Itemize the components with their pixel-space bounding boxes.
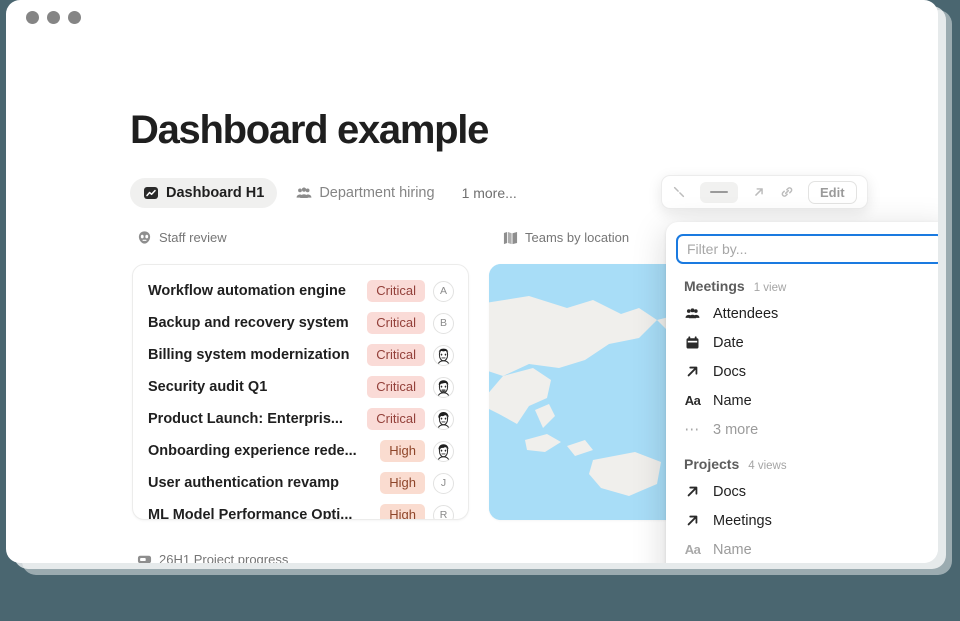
chips-more-label[interactable]: 1 more... [454,185,517,201]
menu-item-label: Name [713,393,752,409]
app-window: Dashboard example Dashboard H1 Departmen… [6,0,938,563]
group-title: Meetings [684,278,745,294]
minimize-button[interactable] [47,11,60,24]
group-view-count: 4 views [748,460,786,472]
arrow-up-right-icon [684,484,701,499]
group-view-count: 1 view [754,282,787,294]
maximize-button[interactable] [68,11,81,24]
task-name: ML Model Performance Opti... [148,507,372,520]
menu-item-label: Docs [713,484,746,500]
priority-badge: Critical [367,344,425,366]
task-row[interactable]: Workflow automation engineCriticalA [133,275,468,307]
close-button[interactable] [26,11,39,24]
avatar[interactable]: B [433,313,454,334]
people-group-icon [684,306,701,321]
staff-review-card: Workflow automation engineCriticalABacku… [132,264,469,520]
chip-department-hiring[interactable]: Department hiring [283,178,447,208]
section-header-teams-by-location: Teams by location [503,230,629,245]
divider-pill-icon[interactable] [700,182,738,203]
priority-badge: High [380,472,425,494]
task-row[interactable]: ML Model Performance Opti...HighR [133,499,468,520]
chip-label: Department hiring [319,185,434,201]
filter-group-header: Projects4 views [676,456,938,474]
task-name: User authentication revamp [148,475,372,491]
group-spacer [676,444,938,456]
priority-badge: Critical [367,376,425,398]
progress-bar-icon [137,552,152,563]
task-name: Billing system modernization [148,347,359,363]
floating-toolbar[interactable]: Edit [661,175,868,209]
task-name: Workflow automation engine [148,283,359,299]
avatar[interactable] [433,409,454,430]
section-label: Teams by location [525,230,629,245]
edit-button[interactable]: Edit [808,181,857,204]
avatar[interactable] [433,345,454,366]
filter-group-list: Meetings1 viewAttendeesDateDocsAaName⋯3 … [676,278,938,563]
chart-line-icon [143,185,159,201]
avatar[interactable]: R [433,505,454,521]
section-header-project-progress: 26H1 Project progress [137,552,288,563]
task-list: Workflow automation engineCriticalABacku… [133,265,468,520]
menu-item-label: Date [713,335,744,351]
arrow-up-right-icon [684,364,701,379]
menu-item-label: 3 more [713,422,758,438]
screenshot-root: Dashboard example Dashboard H1 Departmen… [0,0,960,621]
collapse-icon[interactable] [672,185,686,199]
source-chip-row: Dashboard H1 Department hiring 1 more... [130,178,517,208]
filter-search-input[interactable]: Filter by... [676,234,938,264]
avatar-initial: B [440,317,447,329]
task-name: Product Launch: Enterpris... [148,411,359,427]
menu-item-date[interactable]: Date [676,328,938,357]
menu-item-docs[interactable]: Docs [676,357,938,386]
task-name: Backup and recovery system [148,315,359,331]
map-book-icon [503,230,518,245]
menu-item-label: Attendees [713,306,778,322]
window-titlebar [6,0,938,34]
task-row[interactable]: Product Launch: Enterpris...Critical [133,403,468,435]
avatar-initial: J [441,477,446,489]
section-label: Staff review [159,230,227,245]
aa-text-icon: Aa [684,393,701,408]
task-row[interactable]: Security audit Q1Critical [133,371,468,403]
filter-group-header: Meetings1 view [676,278,938,296]
calendar-icon [684,335,701,350]
avatar[interactable]: J [433,473,454,494]
people-group-icon [296,185,312,201]
aa-text-icon: Aa [684,542,701,557]
link-icon[interactable] [780,185,794,199]
priority-badge: Critical [367,312,425,334]
priority-badge: High [380,440,425,462]
priority-badge: Critical [367,280,425,302]
group-title: Projects [684,456,739,472]
ellipsis-icon: ⋯ [684,422,701,437]
menu-item-attendees[interactable]: Attendees [676,299,938,328]
avatar-initial: R [440,509,448,520]
arrow-up-right-icon[interactable] [752,185,766,199]
menu-item-label: Name [713,542,752,558]
avatar[interactable]: A [433,281,454,302]
page-title: Dashboard example [130,108,488,153]
task-row[interactable]: Onboarding experience rede...High [133,435,468,467]
task-row[interactable]: Backup and recovery systemCriticalB [133,307,468,339]
menu-item-3-more[interactable]: ⋯3 more [676,415,938,444]
menu-item-name[interactable]: AaName [676,386,938,415]
priority-badge: Critical [367,408,425,430]
section-header-staff-review: Staff review [137,230,227,245]
menu-item-name[interactable]: AaName [676,535,938,563]
menu-item-meetings[interactable]: Meetings [676,506,938,535]
menu-item-docs[interactable]: Docs [676,477,938,506]
menu-item-label: Docs [713,364,746,380]
avatar[interactable] [433,441,454,462]
section-label: 26H1 Project progress [159,552,288,563]
chip-label: Dashboard H1 [166,185,264,201]
task-row[interactable]: Billing system modernizationCritical [133,339,468,371]
arrow-up-right-icon [684,513,701,528]
task-name: Onboarding experience rede... [148,443,372,459]
chip-dashboard-h1[interactable]: Dashboard H1 [130,178,277,208]
avatar-initial: A [440,285,447,297]
alien-face-icon [137,230,152,245]
menu-item-label: Meetings [713,513,772,529]
priority-badge: High [380,504,425,520]
task-name: Security audit Q1 [148,379,359,395]
page-content: Dashboard example Dashboard H1 Departmen… [6,34,938,563]
avatar[interactable] [433,377,454,398]
filter-dropdown-panel: Filter by... Meetings1 viewAttendeesDate… [666,222,938,563]
task-row[interactable]: User authentication revampHighJ [133,467,468,499]
